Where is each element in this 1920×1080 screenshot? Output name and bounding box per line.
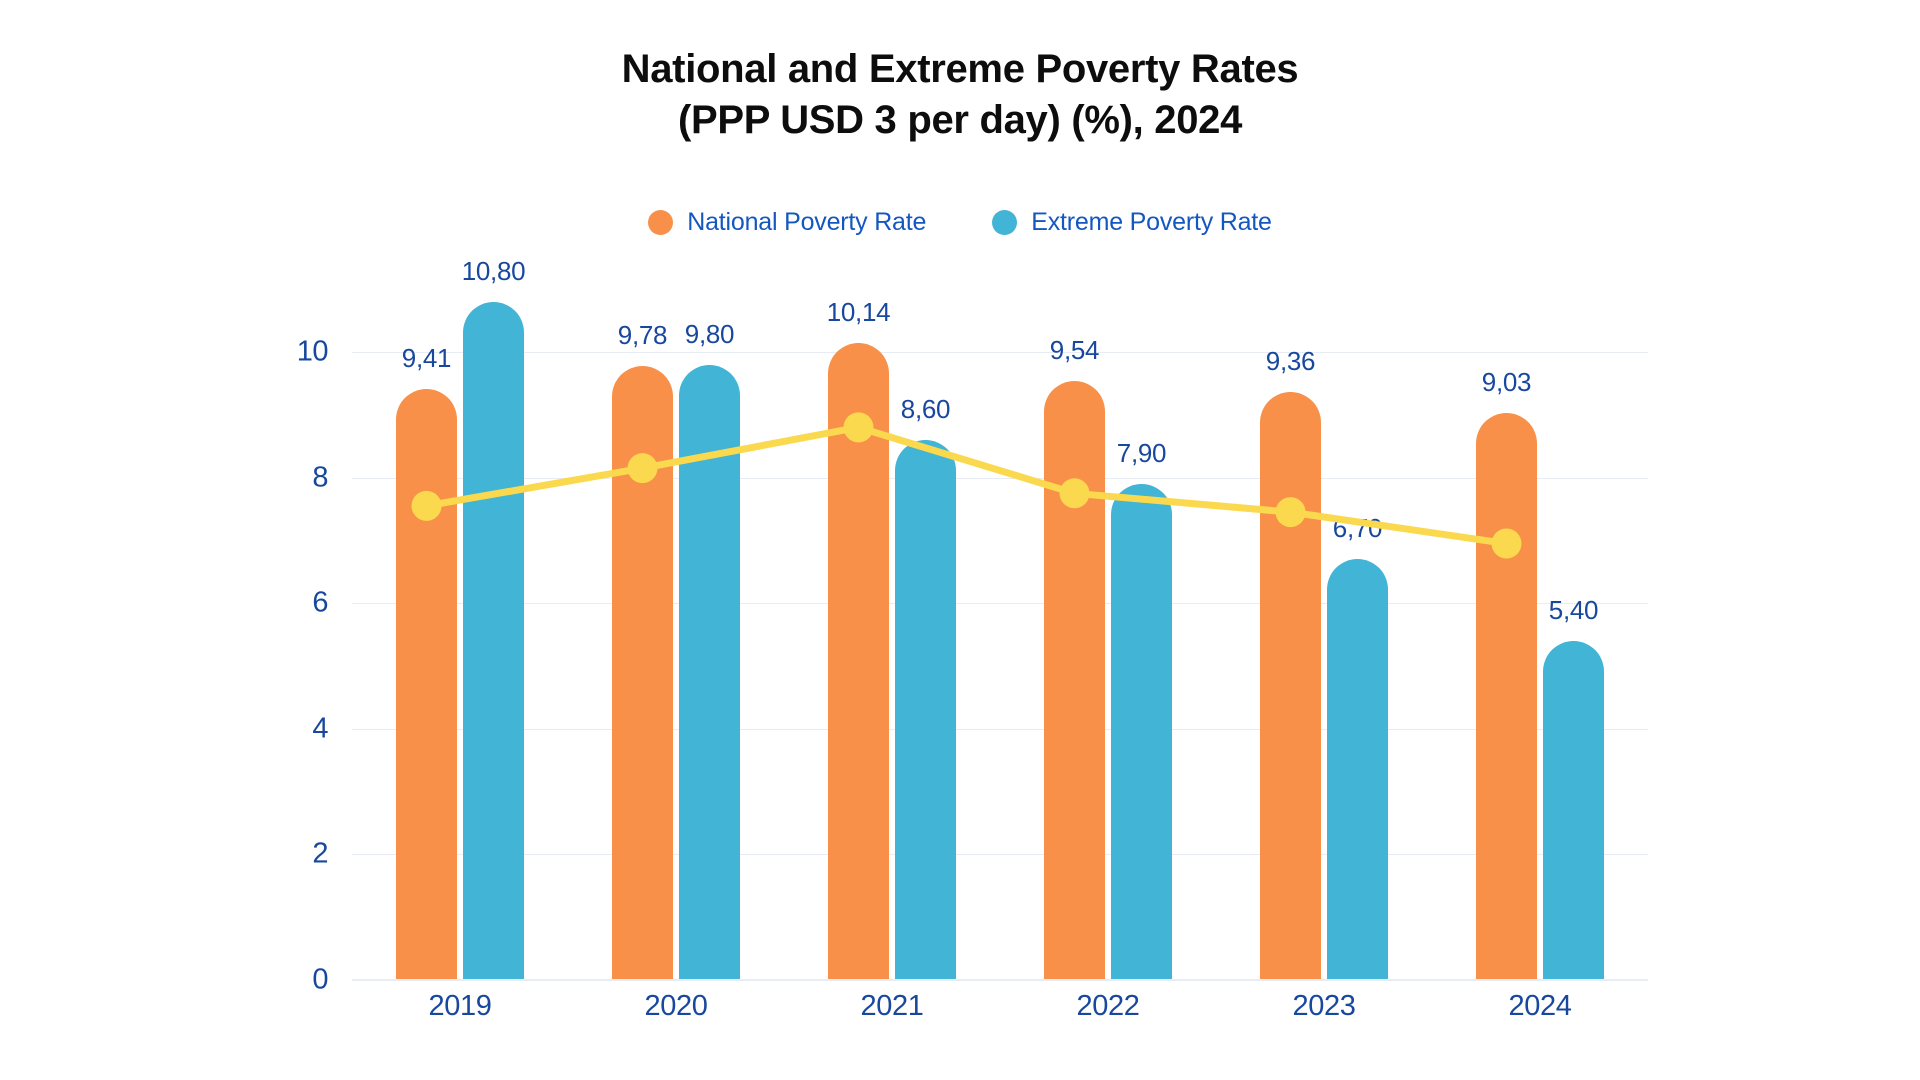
gridline [352,980,1648,981]
bar-label-national-2020: 9,78 [618,320,667,351]
bar-label-extreme-2022: 7,90 [1117,438,1166,469]
bar-label-extreme-2021: 8,60 [901,394,950,425]
legend-swatch-national-icon [648,210,673,235]
legend-item-national-poverty-rate[interactable]: National Poverty Rate [648,208,926,237]
bar-extreme-2019[interactable] [463,302,524,980]
y-axis-tick-label: 10 [266,336,328,369]
bar-national-2024[interactable] [1476,413,1537,980]
bar-label-extreme-2024: 5,40 [1549,595,1598,626]
bar-extreme-2024[interactable] [1543,641,1604,980]
chart-title-line-1: National and Extreme Poverty Rates [622,47,1299,91]
gridline [352,603,1648,604]
gridline [352,478,1648,479]
plot-area: 9,4110,809,789,8010,148,609,547,909,366,… [352,352,1648,980]
bar-label-national-2019: 9,41 [402,343,451,374]
bar-label-national-2022: 9,54 [1050,335,1099,366]
bar-national-2020[interactable] [612,366,673,980]
y-axis-tick-label: 6 [266,587,328,620]
bar-extreme-2022[interactable] [1111,484,1172,980]
bar-extreme-2023[interactable] [1327,559,1388,980]
legend-swatch-extreme-icon [992,210,1017,235]
y-axis: 0246810 [266,352,328,980]
chart-legend: National Poverty Rate Extreme Poverty Ra… [0,208,1920,237]
bar-extreme-2021[interactable] [895,440,956,980]
legend-label-national: National Poverty Rate [687,208,926,237]
gridline [352,854,1648,855]
bar-national-2023[interactable] [1260,392,1321,980]
gridline [352,352,1648,353]
bar-label-national-2023: 9,36 [1266,346,1315,377]
bar-national-2022[interactable] [1044,381,1105,980]
axis-baseline [352,979,1648,980]
bar-label-national-2024: 9,03 [1482,367,1531,398]
legend-label-extreme: Extreme Poverty Rate [1031,208,1272,237]
x-axis-tick-2022: 2022 [1077,990,1140,1023]
bar-label-extreme-2019: 10,80 [462,256,526,287]
x-axis-tick-2020: 2020 [645,990,708,1023]
legend-item-extreme-poverty-rate[interactable]: Extreme Poverty Rate [992,208,1272,237]
y-axis-tick-label: 8 [266,461,328,494]
y-axis-tick-label: 4 [266,712,328,745]
x-axis-tick-2021: 2021 [861,990,924,1023]
y-axis-tick-label: 2 [266,838,328,871]
x-axis-tick-2024: 2024 [1509,990,1572,1023]
x-axis: 201920202021202220232024 [352,990,1648,1040]
bar-label-national-2021: 10,14 [827,297,891,328]
bar-label-extreme-2023: 6,70 [1333,513,1382,544]
bar-label-extreme-2020: 9,80 [685,319,734,350]
bar-extreme-2020[interactable] [679,365,740,980]
chart-title-line-2: (PPP USD 3 per day) (%), 2024 [0,95,1920,146]
poverty-rates-chart: National and Extreme Poverty Rates (PPP … [0,0,1920,1080]
x-axis-tick-2019: 2019 [429,990,492,1023]
y-axis-tick-label: 0 [266,964,328,997]
x-axis-tick-2023: 2023 [1293,990,1356,1023]
chart-title: National and Extreme Poverty Rates (PPP … [0,44,1920,146]
bar-national-2021[interactable] [828,343,889,980]
bar-national-2019[interactable] [396,389,457,980]
gridline [352,729,1648,730]
